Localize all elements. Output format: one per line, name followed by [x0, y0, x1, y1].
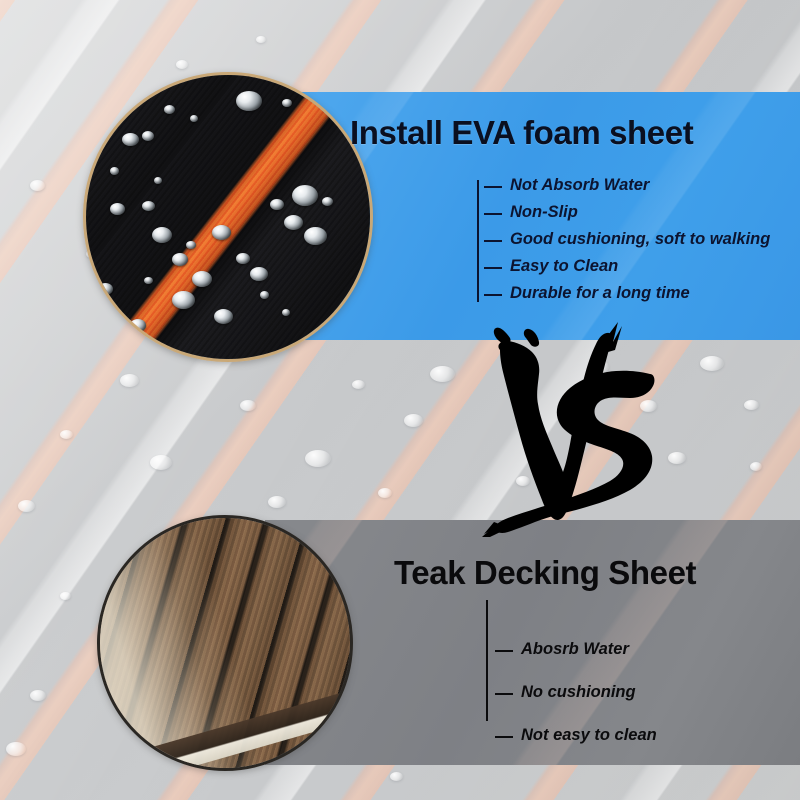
eva-panel-title: Install EVA foam sheet [350, 114, 693, 152]
eva-bracket-spine [477, 180, 479, 302]
teak-decking-photo [97, 515, 353, 771]
eva-feature-list: Not Absorb Water Non-Slip Good cushionin… [510, 172, 770, 307]
eva-feature-item: Good cushioning, soft to walking [510, 226, 770, 253]
teak-panel-title: Teak Decking Sheet [394, 554, 696, 592]
teak-feature-item: No cushioning [521, 671, 657, 714]
eva-feature-item: Easy to Clean [510, 253, 770, 280]
eva-foam-photo [83, 72, 373, 362]
vs-divider-icon [482, 322, 657, 537]
eva-feature-item: Not Absorb Water [510, 172, 770, 199]
teak-feature-item: Not easy to clean [521, 714, 657, 757]
eva-feature-item: Non-Slip [510, 199, 770, 226]
infographic-canvas: Install EVA foam sheet Not Absorb Water … [0, 0, 800, 800]
teak-feature-list: Abosrb Water No cushioning Not easy to c… [521, 628, 657, 757]
teak-bracket-spine [486, 600, 488, 721]
eva-feature-item: Durable for a long time [510, 280, 770, 307]
teak-feature-item: Abosrb Water [521, 628, 657, 671]
